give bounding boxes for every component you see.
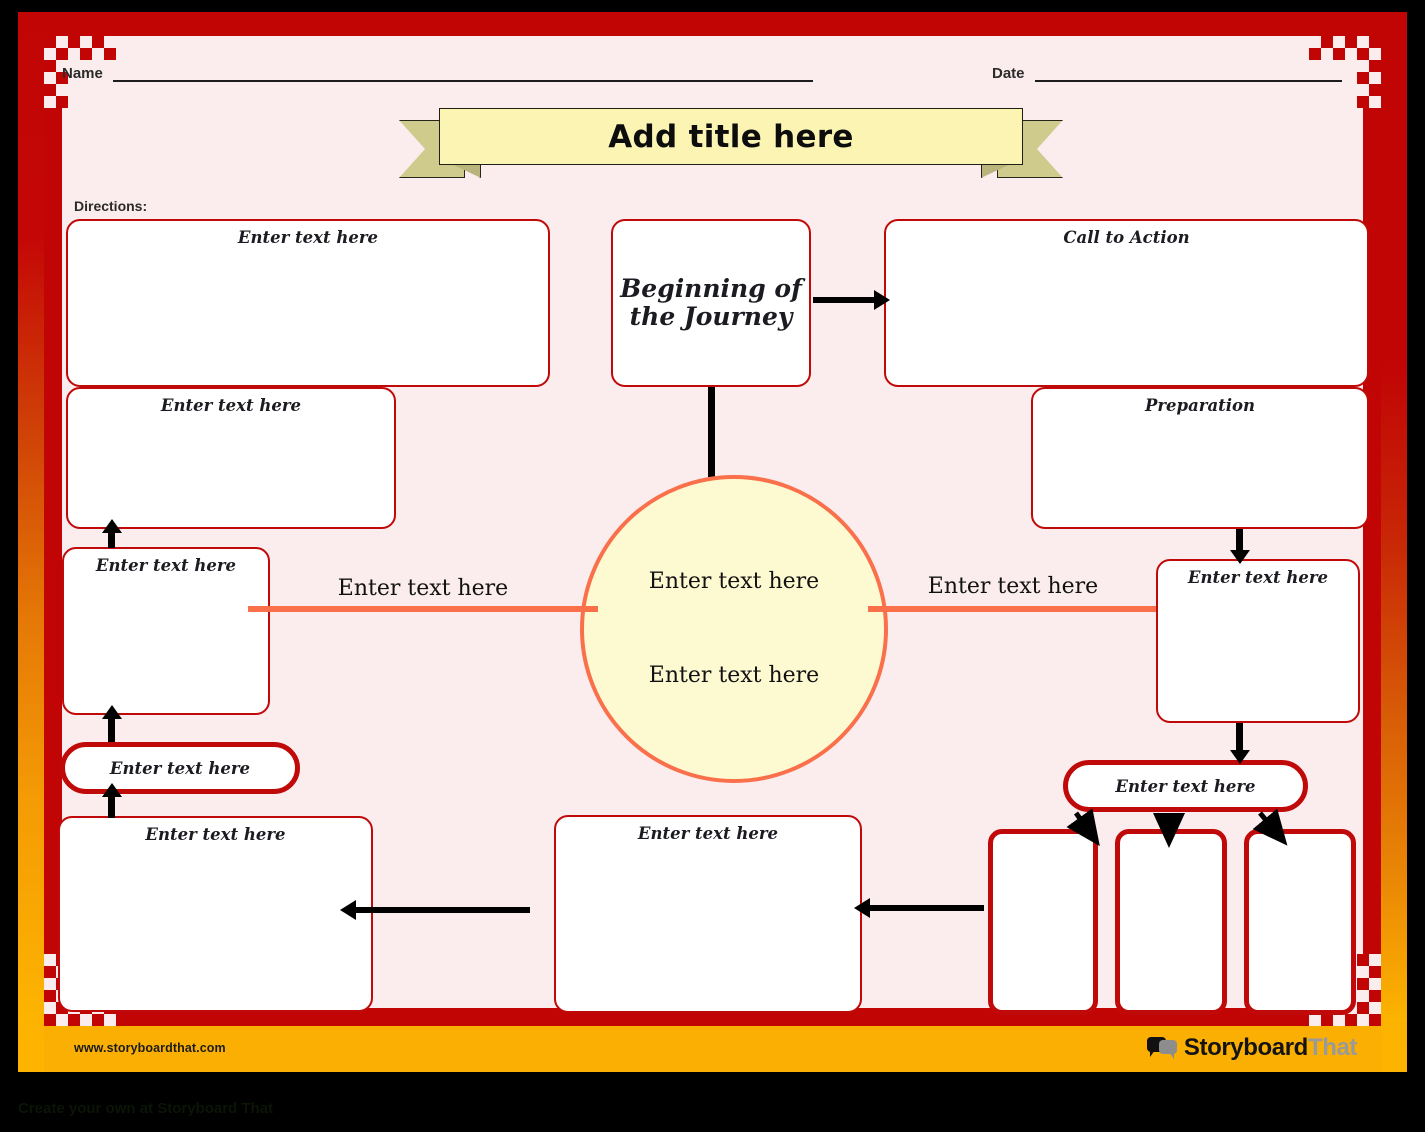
box-branch-two[interactable]	[1115, 829, 1227, 1015]
box-bottom-left[interactable]: Enter text here	[58, 816, 373, 1012]
branch-arrow-three	[1260, 813, 1281, 838]
circle-bottom-text: Enter text here	[584, 663, 884, 688]
name-field[interactable]: Name	[62, 64, 813, 82]
axis-label-right: Enter text here	[863, 574, 1163, 599]
box-mid-left[interactable]: Enter text here	[62, 547, 270, 715]
frame-band-left	[18, 12, 44, 1022]
arrow-right-to-call-to-action	[813, 297, 875, 303]
box-bottom-center[interactable]: Enter text here	[554, 815, 862, 1013]
box-branch-one[interactable]	[988, 829, 1098, 1015]
page-title: Add title here	[608, 119, 853, 155]
arrow-left-center-to-bottom-left	[355, 907, 530, 913]
logo-primary: Storyboard	[1184, 1034, 1308, 1061]
box-mid-left-label: Enter text here	[64, 556, 268, 575]
box-top-left[interactable]: Enter text here	[66, 219, 550, 387]
box-right-pill[interactable]: Enter text here	[1063, 760, 1308, 812]
date-field[interactable]: Date	[992, 64, 1342, 82]
box-left-pill-label: Enter text here	[65, 759, 295, 778]
banner-body[interactable]: Add title here	[439, 108, 1023, 165]
box-call-to-action-label: Call to Action	[886, 228, 1367, 247]
box-beginning-of-journey-label: Beginning ofthe Journey	[613, 275, 809, 331]
branch-arrow-one	[1076, 813, 1094, 838]
arrow-up-left-pill	[108, 718, 115, 742]
frame-inner-right	[1363, 36, 1381, 1026]
box-top-left-label: Enter text here	[68, 228, 548, 247]
box-bottom-center-label: Enter text here	[556, 824, 860, 843]
arrow-up-bottom-left	[108, 796, 115, 818]
box-beginning-of-journey[interactable]: Beginning ofthe Journey	[611, 219, 811, 387]
directions-label: Directions:	[74, 198, 147, 214]
arrow-down-to-right-pill	[1236, 723, 1243, 751]
axis-line-right	[868, 606, 1168, 612]
connector-journey-to-circle	[708, 387, 715, 477]
box-preparation-label: Preparation	[1033, 396, 1367, 415]
arrow-down-to-right-mid	[1236, 529, 1243, 551]
frame-band-right	[1381, 12, 1407, 1022]
box-upper-left-second-label: Enter text here	[68, 396, 394, 415]
arrow-left-branch-to-center	[869, 905, 984, 911]
date-label: Date	[992, 65, 1025, 82]
arrow-up-mid-left	[108, 532, 115, 548]
title-banner[interactable]: Add title here	[399, 108, 1063, 176]
frame-band-top	[18, 12, 1407, 36]
box-right-mid-label: Enter text here	[1158, 568, 1358, 587]
branch-arrows	[1038, 808, 1338, 848]
box-branch-three[interactable]	[1244, 829, 1356, 1015]
worksheet-frame: Name Date Add title here Directions: Ent…	[18, 12, 1407, 1072]
box-bottom-left-label: Enter text here	[60, 825, 371, 844]
box-right-pill-label: Enter text here	[1068, 777, 1303, 796]
box-call-to-action[interactable]: Call to Action	[884, 219, 1369, 387]
circle-top-text: Enter text here	[584, 569, 884, 594]
name-input-line[interactable]	[113, 64, 813, 82]
box-left-pill[interactable]: Enter text here	[60, 742, 300, 794]
box-preparation[interactable]: Preparation	[1031, 387, 1369, 529]
axis-label-left: Enter text here	[288, 576, 558, 601]
tagline: Create your own at Storyboard That	[18, 1100, 273, 1117]
logo-secondary: That	[1308, 1034, 1357, 1061]
name-label: Name	[62, 65, 103, 82]
axis-line-left	[248, 606, 598, 612]
central-circle[interactable]: Enter text here Enter text here	[580, 475, 888, 783]
speech-bubble-icon	[1147, 1037, 1177, 1059]
date-input-line[interactable]	[1035, 64, 1342, 82]
storyboardthat-logo[interactable]: StoryboardThat	[1147, 1034, 1357, 1062]
footer-bar: www.storyboardthat.com StoryboardThat	[44, 1026, 1381, 1072]
footer-url[interactable]: www.storyboardthat.com	[74, 1041, 226, 1055]
box-right-mid[interactable]: Enter text here	[1156, 559, 1360, 723]
box-upper-left-second[interactable]: Enter text here	[66, 387, 396, 529]
